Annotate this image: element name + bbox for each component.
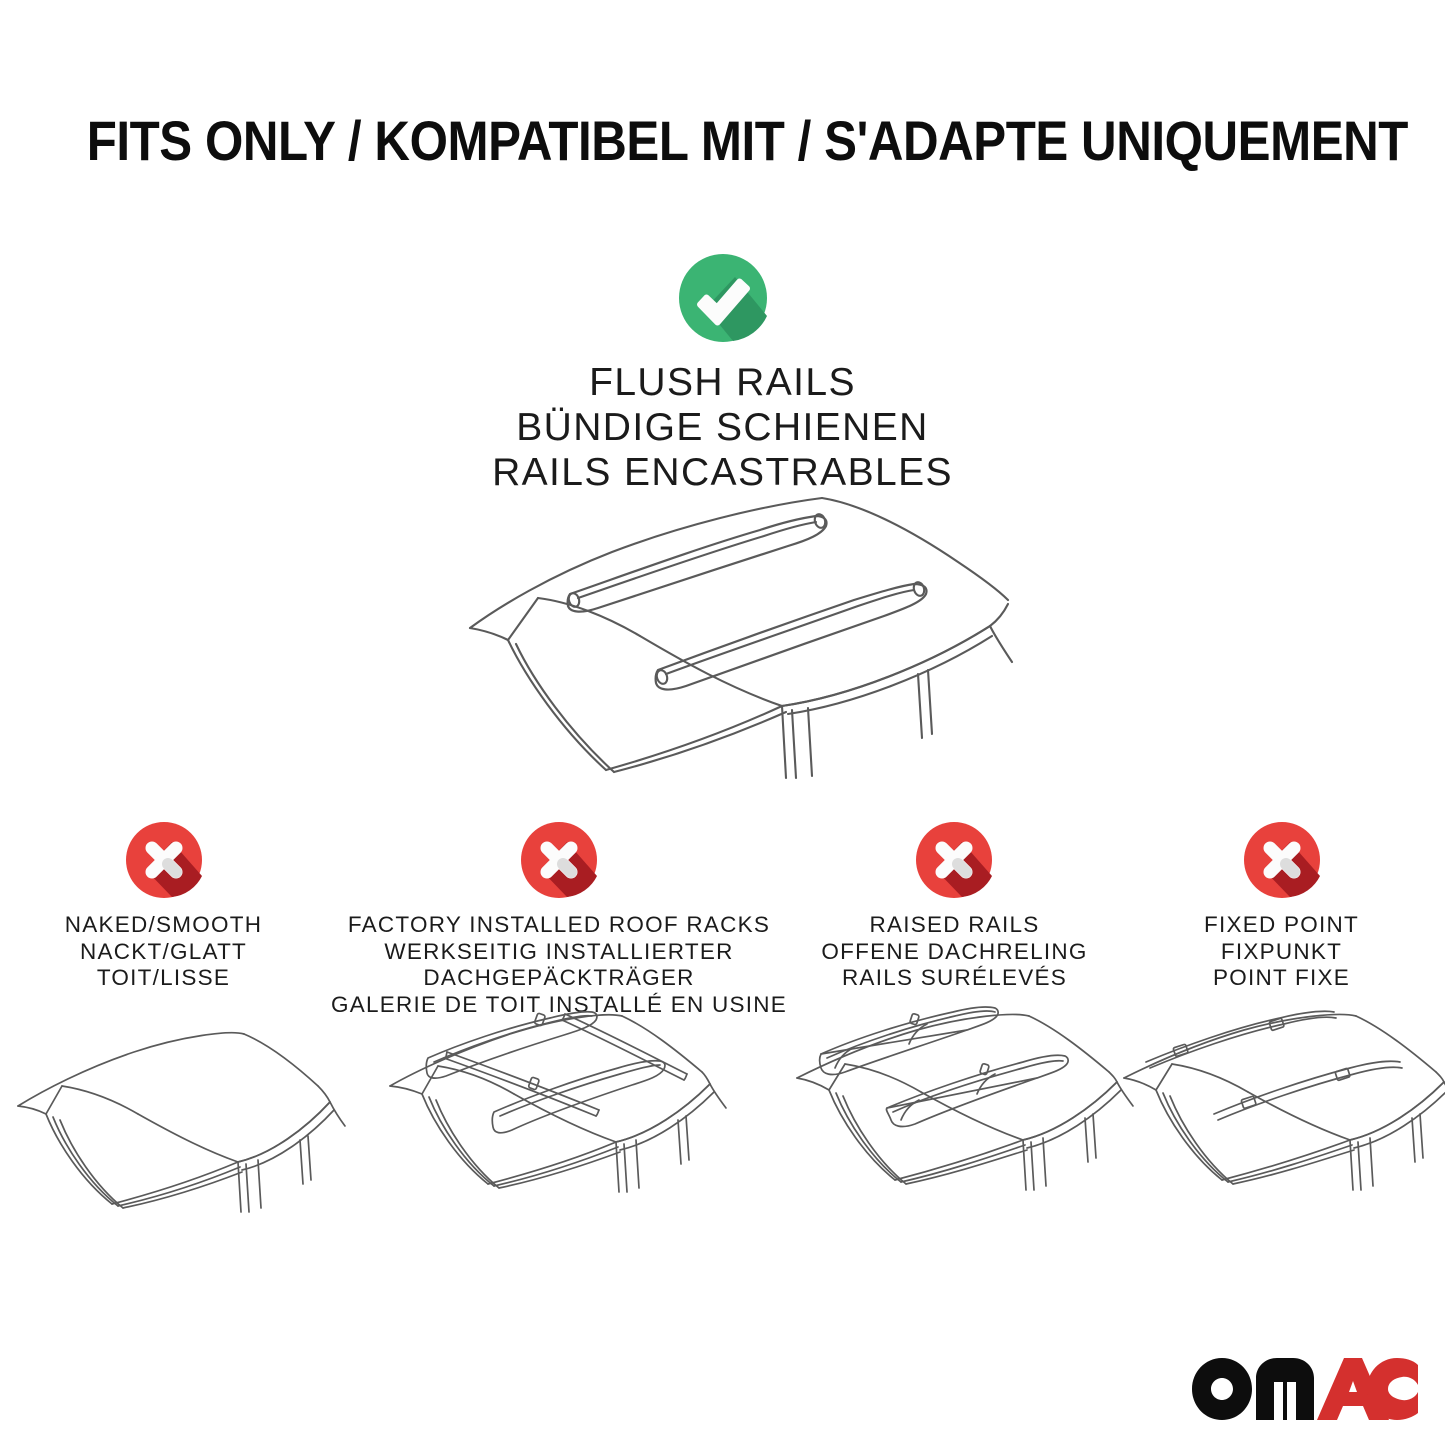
compatible-label-de: BÜNDIGE SCHIENEN bbox=[0, 405, 1445, 450]
compatibility-infographic: FITS ONLY / KOMPATIBEL MIT / S'ADAPTE UN… bbox=[0, 0, 1445, 1445]
compatible-section: FLUSH RAILS BÜNDIGE SCHIENEN RAILS ENCAS… bbox=[0, 250, 1445, 495]
logo-letter-o bbox=[1192, 1358, 1252, 1420]
logo-letter-m bbox=[1256, 1358, 1314, 1420]
label-fr: TOIT/LISSE bbox=[4, 965, 323, 992]
x-circle-icon bbox=[1240, 818, 1324, 902]
label-de: OFFENE DACHRELING bbox=[795, 939, 1114, 966]
x-circle-icon bbox=[122, 818, 206, 902]
incompatible-item-raised-rails: RAISED RAILS OFFENE DACHRELING RAILS SUR… bbox=[791, 818, 1118, 992]
car-roof-with-raised-rails-illustration bbox=[791, 1006, 1118, 1221]
label-de: FIXPUNKT bbox=[1122, 939, 1441, 966]
label-de-2: DACHGEPÄCKTRÄGER bbox=[331, 965, 787, 992]
car-roof-with-fixed-points-illustration bbox=[1118, 1006, 1445, 1221]
car-roof-with-flush-rails-illustration bbox=[430, 478, 1030, 788]
car-roof-naked-smooth-illustration bbox=[0, 1016, 327, 1231]
incompatible-item-fixed-point: FIXED POINT FIXPUNKT POINT FIXE bbox=[1118, 818, 1445, 992]
label-en: FIXED POINT bbox=[1122, 912, 1441, 939]
check-circle-icon bbox=[675, 250, 771, 346]
label-group: RAISED RAILS OFFENE DACHRELING RAILS SUR… bbox=[791, 912, 1118, 992]
label-de-1: WERKSEITIG INSTALLIERTER bbox=[331, 939, 787, 966]
page-title: FITS ONLY / KOMPATIBEL MIT / S'ADAPTE UN… bbox=[87, 108, 1359, 173]
label-fr: RAILS SURÉLEVÉS bbox=[795, 965, 1114, 992]
omac-logo bbox=[1192, 1356, 1418, 1422]
label-group: FIXED POINT FIXPUNKT POINT FIXE bbox=[1118, 912, 1445, 992]
incompatible-item-naked-smooth: NAKED/SMOOTH NACKT/GLATT TOIT/LISSE bbox=[0, 818, 327, 992]
label-group: NAKED/SMOOTH NACKT/GLATT TOIT/LISSE bbox=[0, 912, 327, 992]
x-circle-icon bbox=[912, 818, 996, 902]
compatible-labels: FLUSH RAILS BÜNDIGE SCHIENEN RAILS ENCAS… bbox=[0, 360, 1445, 495]
label-en: RAISED RAILS bbox=[795, 912, 1114, 939]
compatible-label-en: FLUSH RAILS bbox=[0, 360, 1445, 405]
label-en: NAKED/SMOOTH bbox=[4, 912, 323, 939]
incompatible-item-factory-roof-racks: FACTORY INSTALLED ROOF RACKS WERKSEITIG … bbox=[327, 818, 791, 1018]
x-circle-icon bbox=[517, 818, 601, 902]
label-group: FACTORY INSTALLED ROOF RACKS WERKSEITIG … bbox=[327, 912, 791, 1018]
label-en: FACTORY INSTALLED ROOF RACKS bbox=[331, 912, 787, 939]
car-roof-with-factory-crossbars-illustration bbox=[327, 1006, 791, 1221]
label-fr: POINT FIXE bbox=[1122, 965, 1441, 992]
label-de: NACKT/GLATT bbox=[4, 939, 323, 966]
incompatible-section: NAKED/SMOOTH NACKT/GLATT TOIT/LISSE bbox=[0, 818, 1445, 1018]
